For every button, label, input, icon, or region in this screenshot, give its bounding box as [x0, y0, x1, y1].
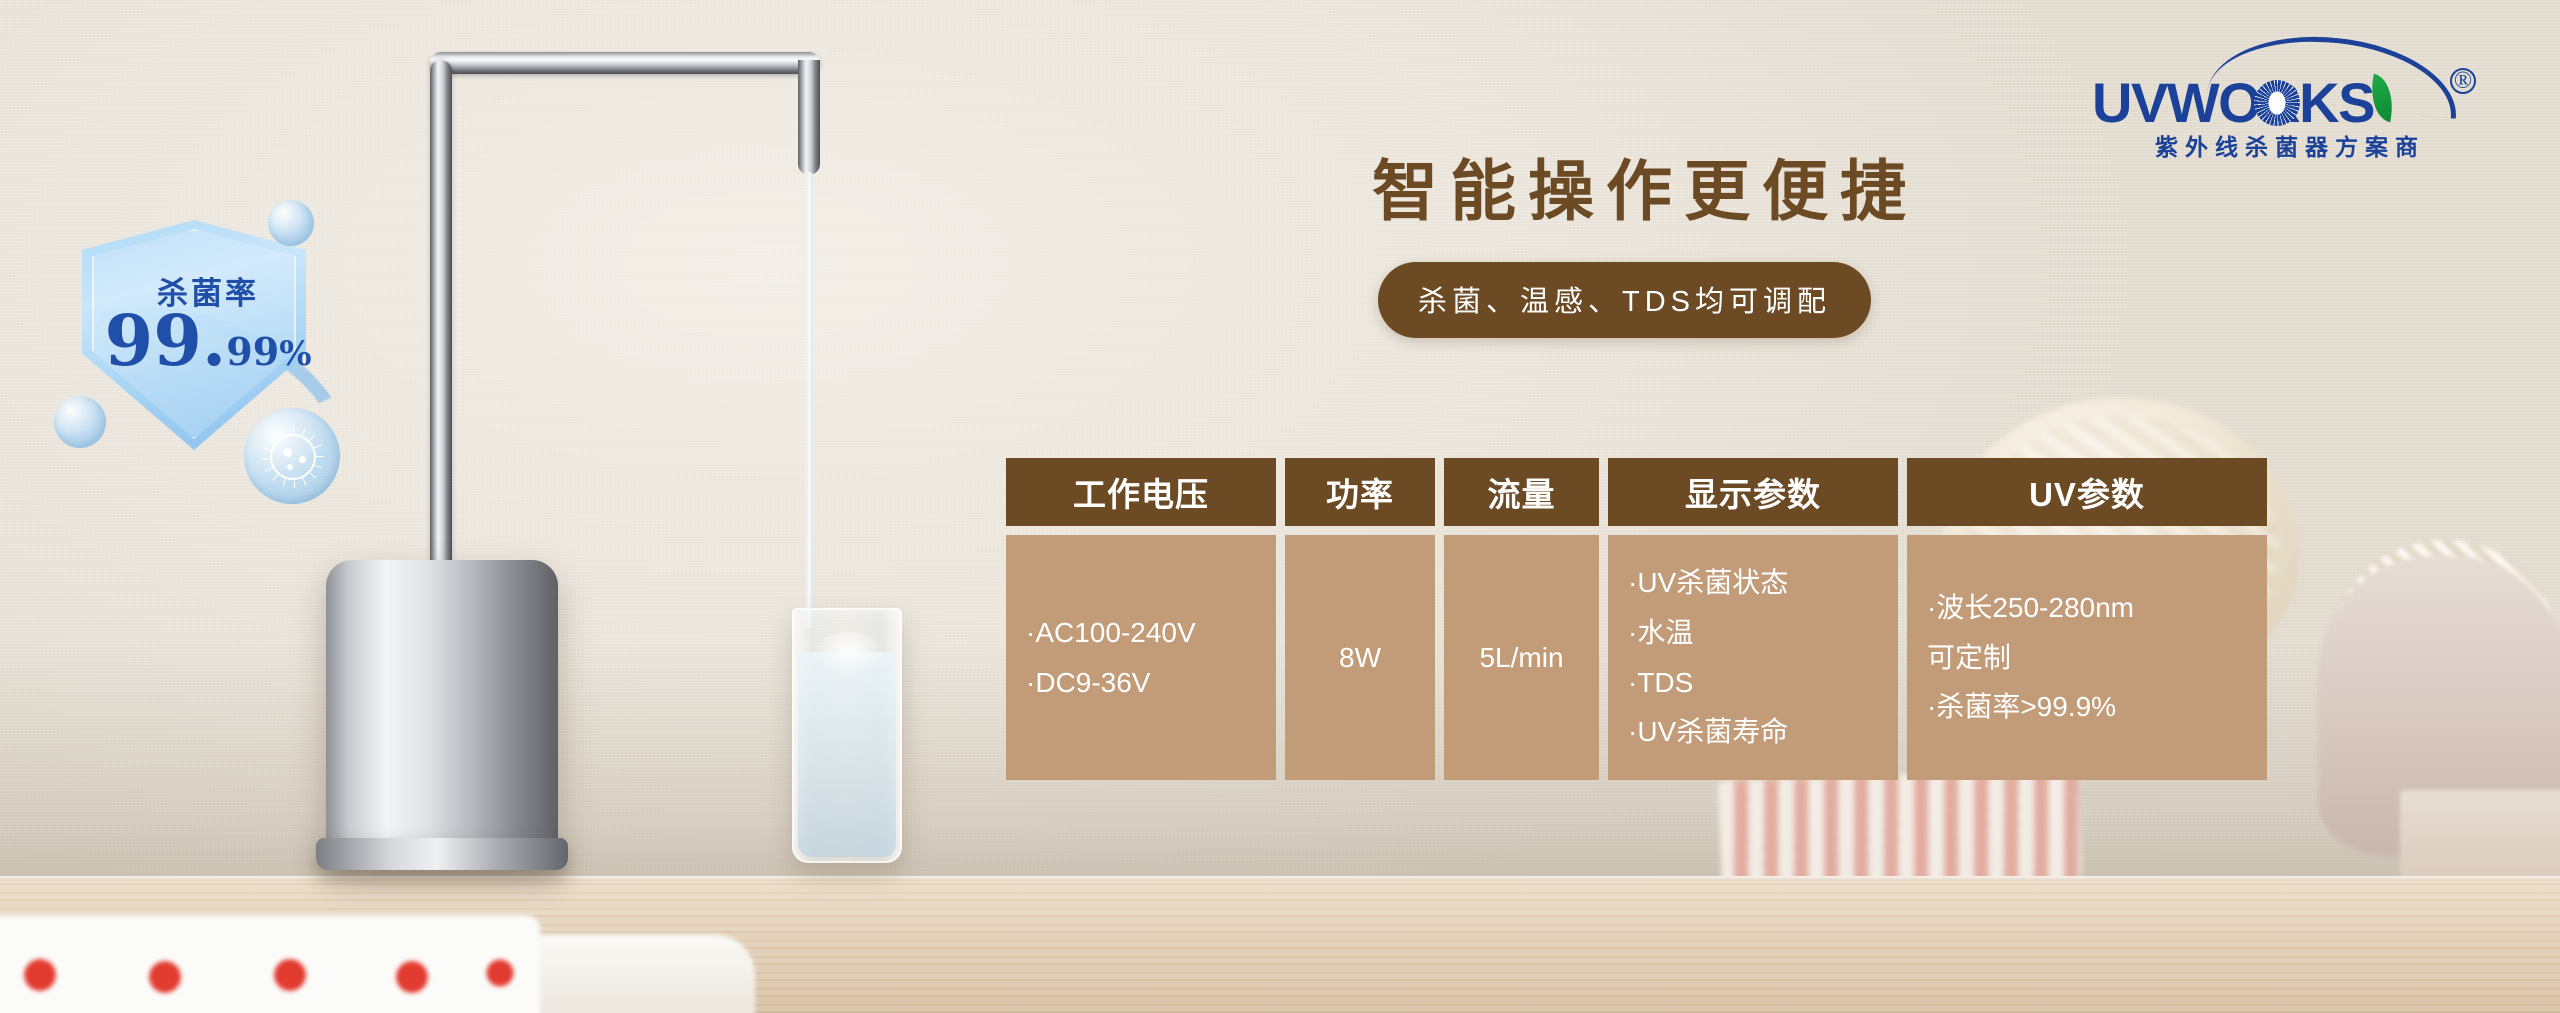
- badge-value-integer: 99: [105, 299, 202, 382]
- table-header-cell: 功率: [1285, 458, 1435, 526]
- faucet-horizontal-arm: [430, 52, 820, 74]
- table-header-cell: UV参数: [1907, 458, 2267, 526]
- polka-cloth-prop: [0, 915, 540, 1013]
- cell-line: ·UV杀菌寿命: [1628, 707, 1878, 757]
- cell-line: 可定制: [1927, 633, 2247, 683]
- badge-value-dot: .: [202, 299, 226, 382]
- logo-registered-icon: ®: [2450, 68, 2476, 94]
- faucet-vertical-stem: [430, 60, 452, 580]
- brand-logo: UVWORKS ® 紫外线杀菌器方案商: [2088, 36, 2488, 154]
- germ-icon: [270, 434, 316, 480]
- table-body-cell: 5L/min: [1444, 535, 1599, 780]
- cell-line: ·波长250-280nm: [1927, 583, 2247, 633]
- sterilization-rate-badge: 杀菌率 99.99%: [48, 196, 368, 496]
- feature-pill-badge: 杀菌、温感、TDS均可调配: [1378, 262, 1871, 338]
- water-stream: [805, 172, 814, 627]
- logo-sunburst-icon: [2254, 80, 2300, 126]
- water-glass: [792, 608, 902, 863]
- cell-line: ·杀菌率>99.9%: [1927, 682, 2247, 732]
- badge-value: 99.99%: [48, 306, 368, 376]
- badge-value-decimal: 99: [226, 329, 279, 374]
- counter-edge: [0, 876, 2560, 881]
- table-header-cell: 显示参数: [1608, 458, 1898, 526]
- badge-value-percent: %: [279, 334, 311, 374]
- cell-line: ·TDS: [1628, 658, 1878, 708]
- cell-line: 8W: [1339, 633, 1381, 683]
- cell-line: ·水温: [1628, 608, 1878, 658]
- bubble-icon: [268, 200, 314, 246]
- uv-sterilizer-device: UVWORKS® UV TDS: [326, 560, 558, 860]
- logo-subtitle: 紫外线杀菌器方案商: [2095, 128, 2485, 162]
- glass-water-fill: [798, 652, 896, 857]
- water-splash: [814, 632, 884, 678]
- table-header-cell: 工作电压: [1006, 458, 1276, 526]
- cell-line: ·AC100-240V: [1026, 608, 1256, 658]
- bubble-icon: [54, 396, 106, 448]
- cell-line: 5L/min: [1479, 633, 1563, 683]
- table-body-cell: ·波长250-280nm 可定制 ·杀菌率>99.9%: [1907, 535, 2267, 780]
- page-title: 智能操作更便捷: [1372, 138, 1918, 234]
- cell-line: ·UV杀菌状态: [1628, 558, 1878, 608]
- device-base: [316, 838, 568, 870]
- specification-table: 工作电压 功率 流量 显示参数 UV参数 ·AC100-240V ·DC9-36…: [1006, 458, 2267, 780]
- table-header-cell: 流量: [1444, 458, 1599, 526]
- table-body-cell: ·UV杀菌状态 ·水温 ·TDS ·UV杀菌寿命: [1608, 535, 1898, 780]
- cell-line: ·DC9-36V: [1026, 658, 1256, 708]
- logo-wordmark: UVWORKS: [2092, 70, 2374, 135]
- table-body-cell: ·AC100-240V ·DC9-36V: [1006, 535, 1276, 780]
- striped-cloth-prop: [1718, 769, 2082, 891]
- faucet-spout: [798, 60, 820, 175]
- table-body-cell: 8W: [1285, 535, 1435, 780]
